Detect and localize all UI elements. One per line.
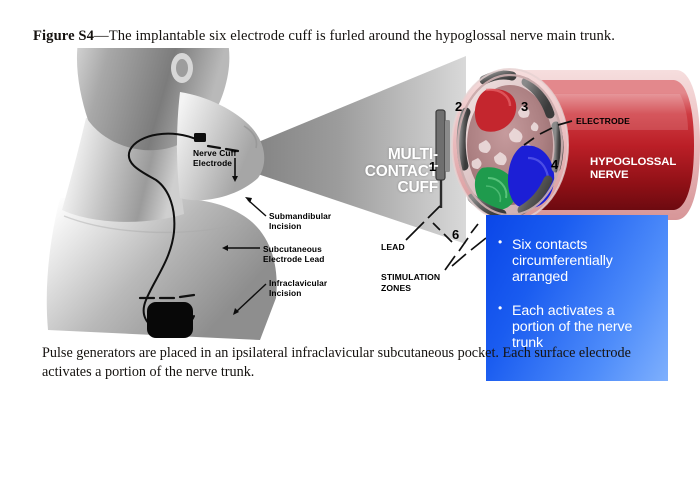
label-nerve-cuff-electrode-line-2: Electrode — [193, 159, 263, 169]
label-hypoglossal-nerve-line-1: HYPOGLOSSAL — [590, 156, 694, 169]
label-hypoglossal-nerve-line-2: NERVE — [590, 169, 694, 182]
cuff-title-line-3: CUFF — [344, 180, 438, 197]
contact-number-2: 2 — [455, 100, 462, 113]
label-submandibular-incision: Submandibular Incision — [269, 212, 359, 232]
label-stimulation-zones: STIMULATION ZONES — [381, 272, 453, 293]
label-stimulation-line-1: STIMULATION — [381, 272, 453, 283]
figure-footnote: Pulse generators are placed in an ipsila… — [42, 344, 660, 382]
label-subcutaneous-electrode-lead: Subcutaneous Electrode Lead — [263, 245, 355, 265]
contact-number-4: 4 — [551, 158, 558, 171]
label-infraclavicular-incision: Infraclavicular Incision — [269, 279, 355, 299]
label-lead: LEAD — [381, 242, 421, 252]
figure-page: Figure S4—The implantable six electrode … — [0, 0, 700, 483]
multi-contact-cuff-title: MULTI- CONTACT CUFF — [344, 147, 438, 197]
label-hypoglossal-nerve: HYPOGLOSSAL NERVE — [590, 156, 694, 183]
caption-dash: — — [94, 28, 109, 44]
label-nerve-cuff-electrode: Nerve Cuff Electrode — [193, 149, 263, 169]
figure-caption: Figure S4—The implantable six electrode … — [33, 27, 673, 45]
label-submandibular-line-2: Incision — [269, 222, 359, 232]
label-infraclavicular-line-2: Incision — [269, 289, 355, 299]
label-stimulation-line-2: ZONES — [381, 283, 453, 294]
label-electrode: ELECTRODE — [576, 116, 656, 126]
figure-number: Figure S4 — [33, 28, 94, 44]
callout-bullet-1: Six contacts circumferentially arranged — [496, 237, 658, 286]
figure-artwork: MULTI- CONTACT CUFF Nerve Cuff Electrode… — [0, 48, 700, 340]
label-subcutaneous-line-2: Electrode Lead — [263, 255, 355, 265]
cuff-title-line-1: MULTI- — [344, 147, 438, 164]
contact-number-1: 1 — [429, 160, 436, 173]
head-neck-torso-illustration — [30, 48, 310, 340]
contact-number-6: 6 — [452, 228, 459, 241]
caption-text: The implantable six electrode cuff is fu… — [109, 28, 615, 44]
cuff-title-line-2: CONTACT — [344, 164, 438, 181]
contact-number-3: 3 — [521, 100, 528, 113]
cuff-lead-stub — [436, 110, 450, 208]
